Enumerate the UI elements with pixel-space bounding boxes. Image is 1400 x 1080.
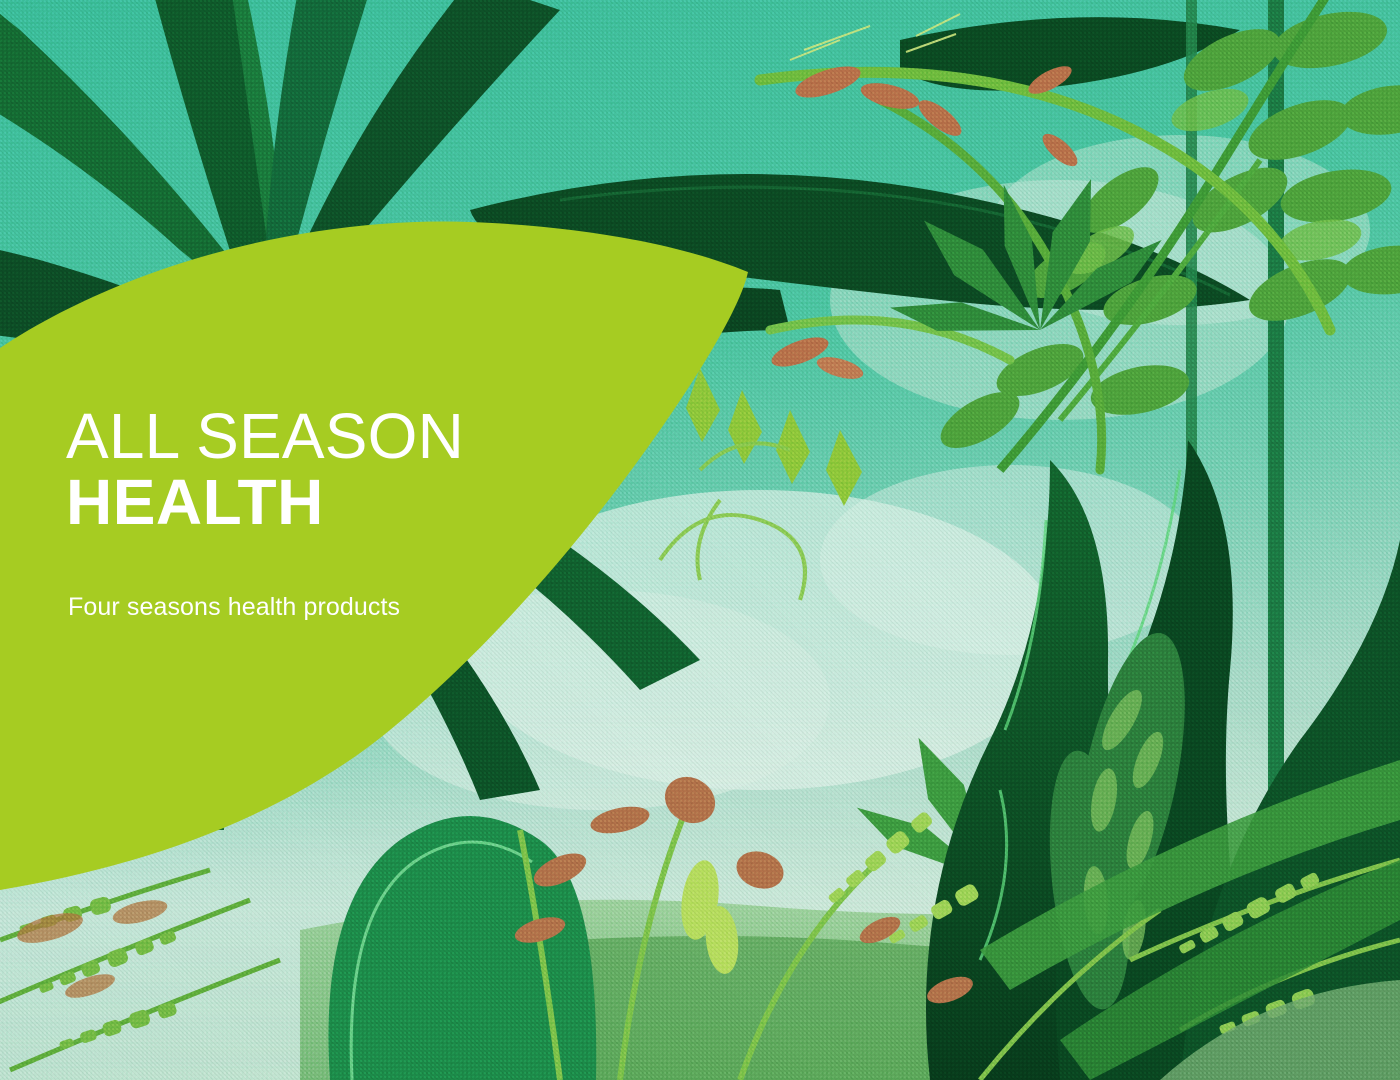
hero-copy-block: ALL SEASON HEALTH Four seasons health pr… <box>66 404 536 536</box>
background-illustration <box>0 0 1400 1080</box>
page-subtitle: Four seasons health products <box>68 593 400 622</box>
poster-canvas: ALL SEASON HEALTH Four seasons health pr… <box>0 0 1400 1080</box>
headline-line-1: ALL SEASON <box>66 400 464 472</box>
headline-line-2: HEALTH <box>66 470 536 536</box>
page-title: ALL SEASON HEALTH <box>66 404 536 536</box>
